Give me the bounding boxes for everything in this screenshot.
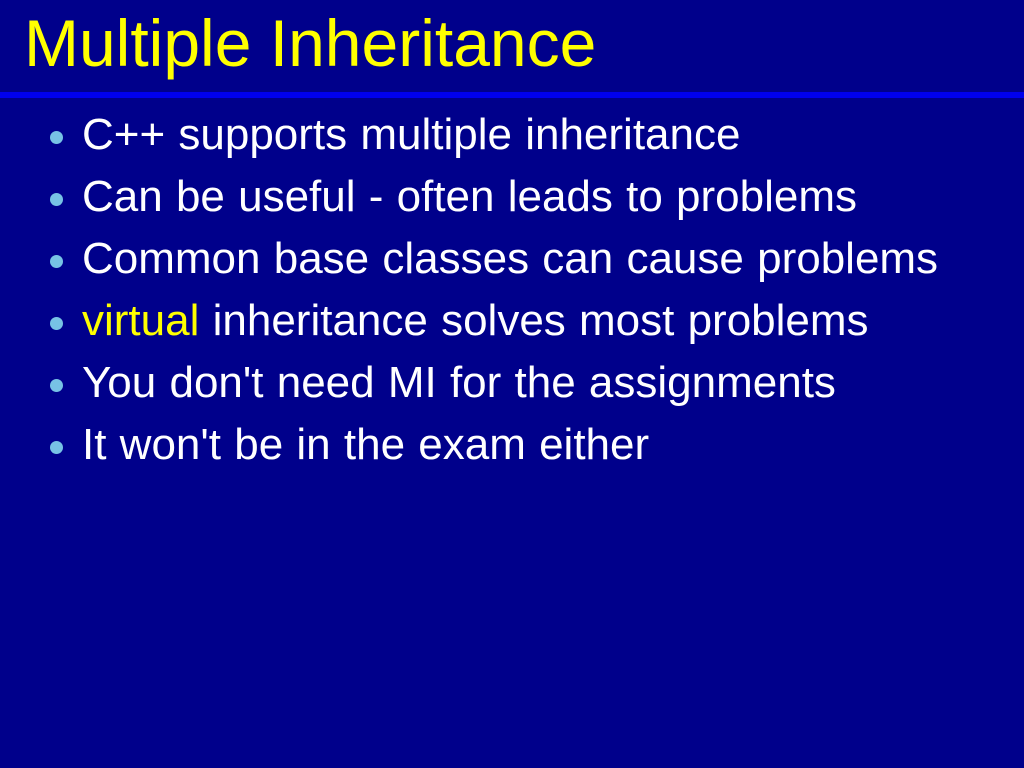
bullet-dot-icon [50, 193, 63, 206]
list-item-label: virtual inheritance solves most problems [82, 290, 1004, 352]
list-item: Common base classes can cause problems [0, 228, 1024, 290]
list-item: C++ supports multiple inheritance [0, 104, 1024, 166]
title-divider-rule [0, 92, 1024, 98]
list-item: Can be useful - often leads to problems [0, 166, 1024, 228]
bullet-dot-icon [50, 131, 63, 144]
list-item-label: You don't need MI for the assignments [82, 352, 1004, 414]
list-item-label: It won't be in the exam either [82, 414, 1004, 476]
keyword-virtual: virtual [82, 296, 199, 345]
page-title: Multiple Inheritance [24, 3, 596, 83]
list-item-label: Common base classes can cause problems [82, 228, 1004, 290]
presentation-slide: Multiple Inheritance C++ supports multip… [0, 0, 1024, 768]
bullet-dot-icon [50, 379, 63, 392]
list-item-label-rest: inheritance solves most problems [199, 296, 868, 345]
list-item: You don't need MI for the assignments [0, 352, 1024, 414]
list-item-label: C++ supports multiple inheritance [82, 104, 1004, 166]
slide-title-area: Multiple Inheritance [0, 0, 1024, 93]
list-item-label: Can be useful - often leads to problems [82, 166, 1004, 228]
bullet-dot-icon [50, 255, 63, 268]
bullet-dot-icon [50, 317, 63, 330]
bullet-dot-icon [50, 441, 63, 454]
bullet-list: C++ supports multiple inheritance Can be… [0, 104, 1024, 476]
list-item: It won't be in the exam either [0, 414, 1024, 476]
list-item-virtual: virtual inheritance solves most problems [0, 290, 1024, 352]
